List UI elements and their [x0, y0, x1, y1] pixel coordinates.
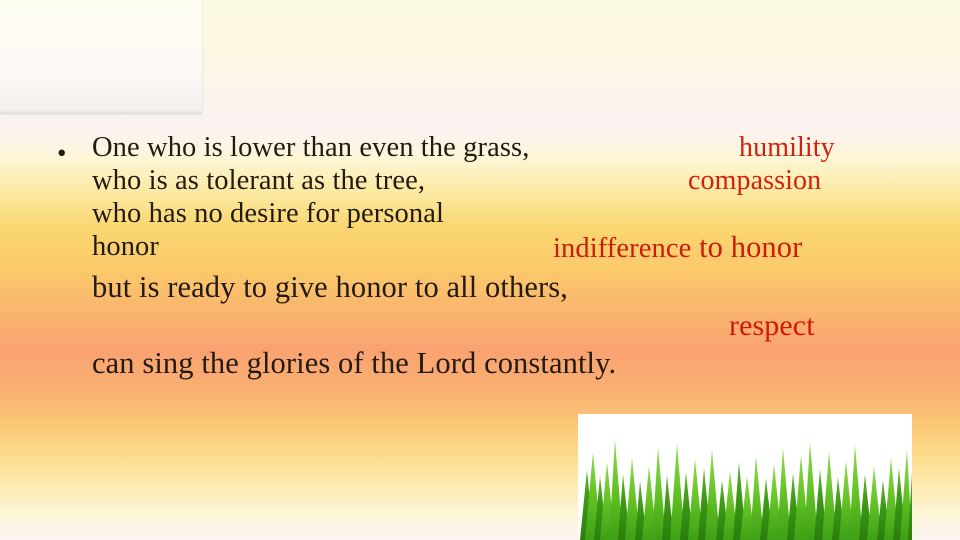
bullet-marker: •: [57, 140, 66, 167]
grass-illustration: [578, 414, 912, 540]
annotation-respect: respect: [729, 309, 815, 343]
slide-canvas: • One who is lower than even the grass, …: [0, 0, 960, 540]
annotation-compassion: compassion: [688, 165, 821, 197]
body-line-6: can sing the glories of the Lord constan…: [92, 346, 616, 381]
body-line-4: honor: [92, 231, 159, 263]
body-line-3: who has no desire for personal: [92, 198, 444, 230]
body-line-1: One who is lower than even the grass,: [92, 132, 529, 164]
body-line-2: who is as tolerant as the tree,: [92, 165, 425, 197]
annotation-humility: humility: [739, 132, 835, 164]
annotation-indifference-to-honor: indifference to honor: [553, 230, 802, 265]
body-line-5: but is ready to give honor to all others…: [92, 270, 568, 305]
annotation-indifference-word: indifference: [553, 233, 691, 264]
grass-blades-icon: [578, 414, 912, 540]
annotation-to-honor-words: to honor: [691, 230, 802, 264]
